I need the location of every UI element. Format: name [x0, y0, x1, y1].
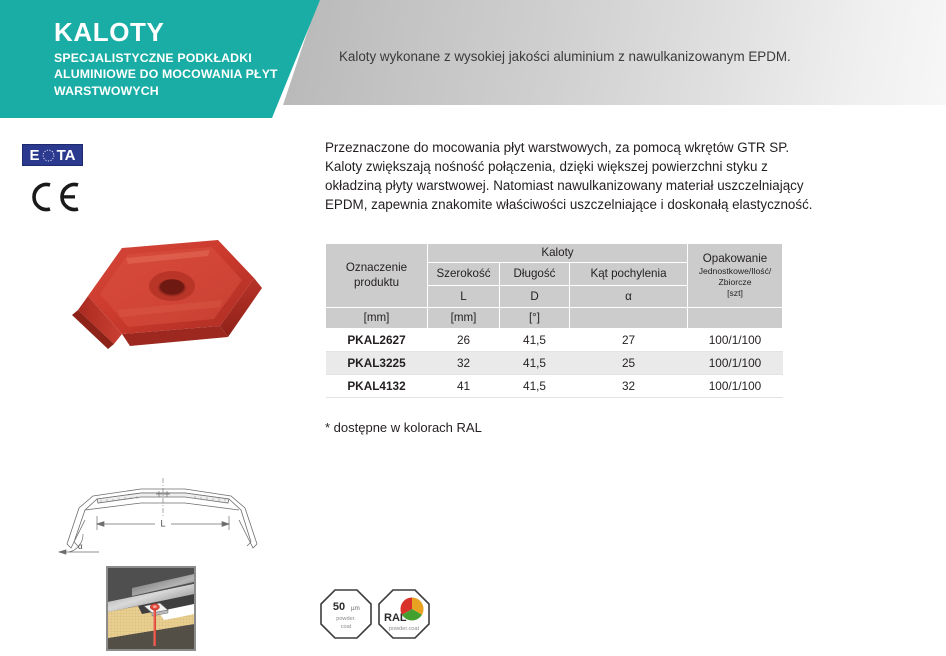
technical-drawing-cross-section: L α — [55, 472, 270, 557]
angle-label-alpha: α — [78, 542, 83, 551]
table-row: PKAL2627 26 41,5 27 100/1/100 — [326, 329, 783, 352]
ce-marking-icon — [26, 180, 84, 214]
installation-diagram — [106, 566, 196, 651]
cell-packaging: 100/1/100 — [688, 352, 783, 375]
eta-logo-left-text: E — [30, 148, 40, 163]
th-packaging-sub1: Jednostkowe/Ilość/ — [691, 266, 779, 277]
ral-footnote: * dostępne w kolorach RAL — [325, 420, 482, 435]
cell-angle: 32 — [570, 375, 688, 398]
th-unit-width: [mm] — [326, 308, 428, 329]
cell-length: 41,5 — [500, 352, 570, 375]
th-symbol-d: D — [500, 286, 570, 308]
badge-50um-line2: coat — [341, 624, 352, 630]
page-header: KALOTY SPECJALISTYCZNE PODKŁADKI ALUMINI… — [0, 0, 946, 118]
badge-ral-line1: powder.coat — [389, 626, 420, 632]
specifications-table: Oznaczenie produktu Kaloty Opakowanie Je… — [325, 243, 783, 398]
cell-packaging: 100/1/100 — [688, 375, 783, 398]
table-row: PKAL4132 41 41,5 32 100/1/100 — [326, 375, 783, 398]
th-packaging-main: Opakowanie — [703, 252, 767, 265]
th-unit-angle: [°] — [500, 308, 570, 329]
product-description: Przeznaczone do mocowania płyt warstwowy… — [325, 138, 825, 214]
eu-stars-circle-icon — [41, 148, 56, 163]
eta-certification-logo: E TA — [22, 144, 83, 166]
th-packaging-sub2: Zbiorcze — [691, 277, 779, 288]
cell-width: 41 — [428, 375, 500, 398]
eta-logo-right-text: TA — [57, 148, 76, 163]
th-unit-length: [mm] — [428, 308, 500, 329]
cell-length: 41,5 — [500, 329, 570, 352]
th-group-kaloty: Kaloty — [428, 244, 688, 263]
cell-angle: 27 — [570, 329, 688, 352]
dimension-label-l: L — [160, 519, 165, 529]
cell-width: 26 — [428, 329, 500, 352]
product-photo-kalot — [22, 218, 284, 353]
th-product-designation: Oznaczenie produktu — [326, 244, 428, 308]
page-title: KALOTY — [54, 18, 164, 47]
cell-angle: 25 — [570, 352, 688, 375]
table-row: PKAL3225 32 41,5 25 100/1/100 — [326, 352, 783, 375]
cell-product: PKAL2627 — [326, 329, 428, 352]
cell-length: 41,5 — [500, 375, 570, 398]
cell-product: PKAL4132 — [326, 375, 428, 398]
cell-packaging: 100/1/100 — [688, 329, 783, 352]
th-length: Długość — [500, 263, 570, 286]
table-header-row-4: [mm] [mm] [°] — [326, 308, 783, 329]
badge-50um-unit: µm — [351, 605, 360, 612]
th-packaging-sub3: [szt] — [691, 288, 779, 299]
cell-width: 32 — [428, 352, 500, 375]
th-packaging: Opakowanie Jednostkowe/Ilość/ Zbiorcze [… — [688, 244, 783, 308]
badge-50um-value: 50 — [333, 601, 345, 613]
header-tagline: Kaloty wykonane z wysokiej jakości alumi… — [339, 48, 899, 65]
th-unit-spacer-left — [570, 308, 688, 329]
table-header-row-1: Oznaczenie produktu Kaloty Opakowanie Je… — [326, 244, 783, 263]
badge-ral-value: RAL — [384, 612, 407, 624]
th-width: Szerokość — [428, 263, 500, 286]
page-subtitle: SPECJALISTYCZNE PODKŁADKI ALUMINIOWE DO … — [54, 50, 284, 99]
th-unit-spacer-right — [688, 308, 783, 329]
th-symbol-l: L — [428, 286, 500, 308]
th-angle: Kąt pochylenia — [570, 263, 688, 286]
badge-ral-powder-coat-icon: RAL powder.coat — [378, 589, 430, 639]
coating-badges-group: 50 µm powder. coat RAL powder.coat — [320, 589, 445, 641]
badge-50um-line1: powder. — [336, 616, 356, 622]
cell-product: PKAL3225 — [326, 352, 428, 375]
badge-50um-powder-coat-icon: 50 µm powder. coat — [320, 589, 372, 639]
th-symbol-alpha: α — [570, 286, 688, 308]
